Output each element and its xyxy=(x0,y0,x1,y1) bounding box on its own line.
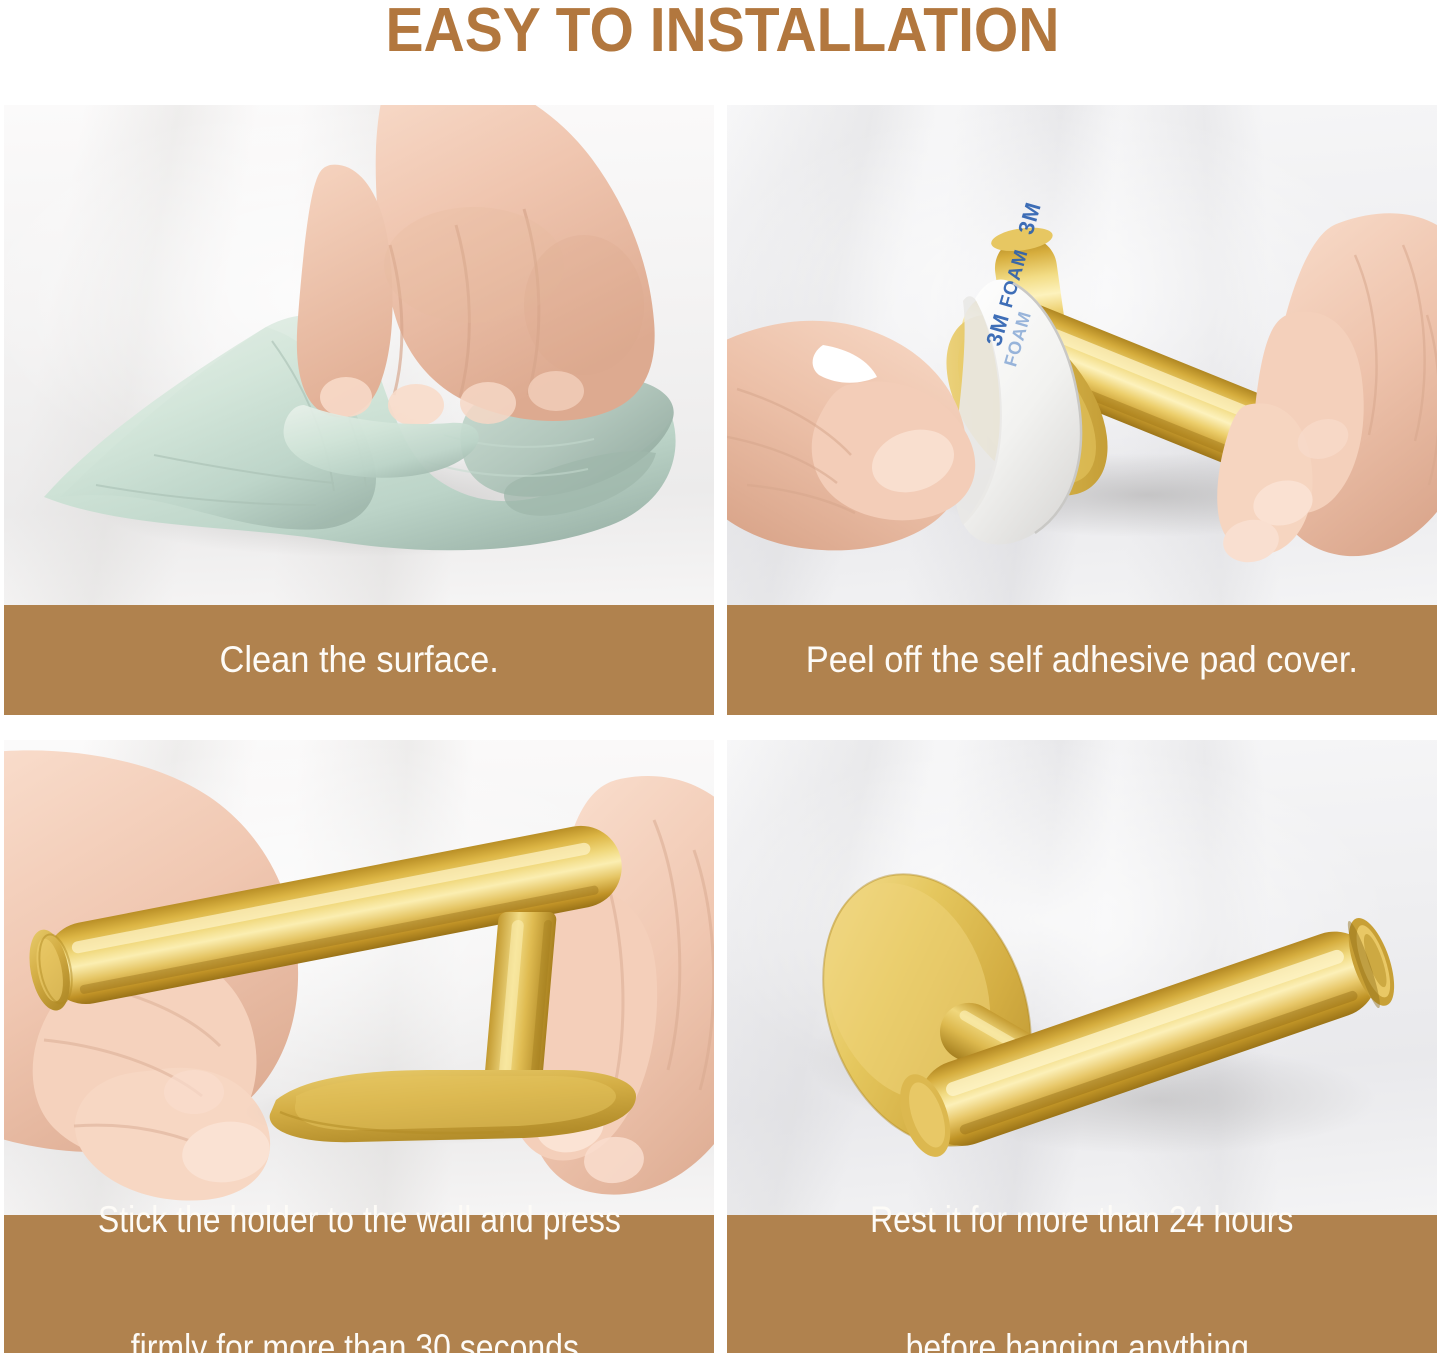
step-4-caption: Rest it for more than 24 hours before ha… xyxy=(727,1215,1437,1353)
step-4-caption-line-1: Rest it for more than 24 hours xyxy=(870,1188,1293,1252)
step-card-1: Clean the surface. xyxy=(4,105,714,715)
page-title: EASY TO INSTALLATION xyxy=(58,0,1387,66)
installation-infographic: EASY TO INSTALLATION xyxy=(0,0,1445,1358)
step-1-caption-text: Clean the surface. xyxy=(219,633,498,687)
step-3-caption-text: Stick the holder to the wall and press f… xyxy=(78,1188,640,1353)
step-card-3: Stick the holder to the wall and press f… xyxy=(4,740,714,1353)
step-card-2: 3M FOAM 3M FOAM xyxy=(727,105,1437,715)
step-1-photo xyxy=(4,105,714,605)
step-4-caption-line-2: before hanging anything. xyxy=(870,1316,1293,1353)
installed-holder-illustration xyxy=(727,740,1437,1215)
step-card-4: Rest it for more than 24 hours before ha… xyxy=(727,740,1437,1353)
step-2-photo: 3M FOAM 3M FOAM xyxy=(727,105,1437,605)
step-2-caption-text: Peel off the self adhesive pad cover. xyxy=(806,633,1358,687)
step-3-photo xyxy=(4,740,714,1215)
hand-with-cloth-illustration xyxy=(4,105,714,605)
step-3-caption: Stick the holder to the wall and press f… xyxy=(4,1215,714,1353)
step-2-caption: Peel off the self adhesive pad cover. xyxy=(727,605,1437,715)
step-4-photo xyxy=(727,740,1437,1215)
peel-adhesive-illustration: 3M FOAM 3M FOAM xyxy=(727,105,1437,605)
step-3-caption-line-1: Stick the holder to the wall and press xyxy=(98,1188,621,1252)
step-1-caption: Clean the surface. xyxy=(4,605,714,715)
step-4-caption-text: Rest it for more than 24 hours before ha… xyxy=(854,1188,1309,1353)
steps-grid: Clean the surface. xyxy=(4,105,1441,1353)
step-3-caption-line-2: firmly for more than 30 seconds. xyxy=(98,1316,621,1353)
pressing-holder-illustration xyxy=(4,740,714,1215)
